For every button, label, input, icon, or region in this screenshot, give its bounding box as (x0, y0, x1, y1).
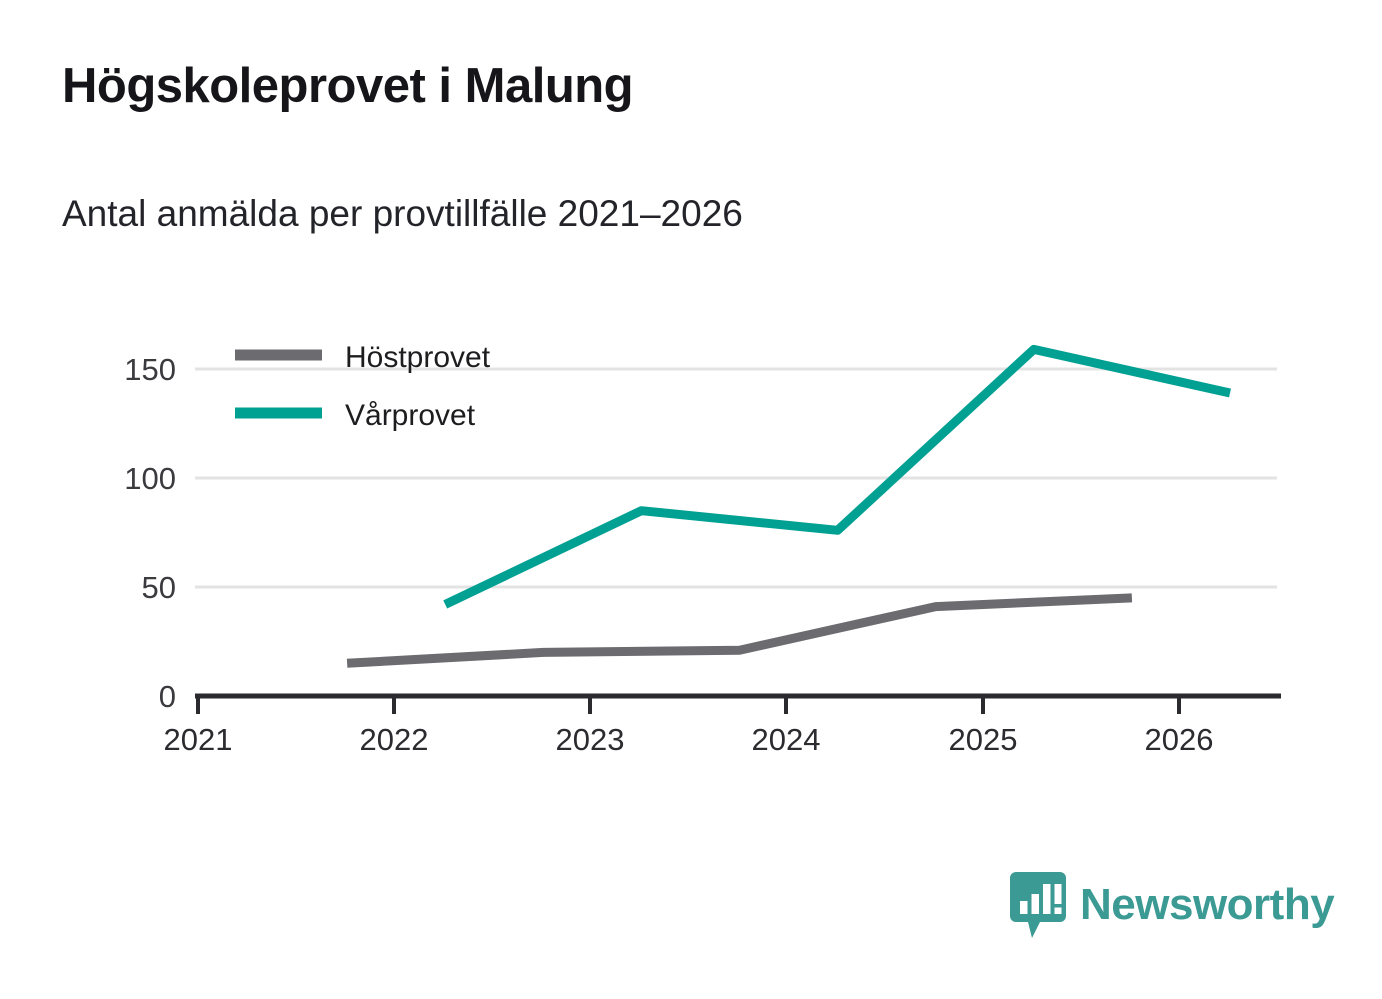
y-axis-tick-labels: 150 100 50 0 (124, 352, 176, 714)
line-chart: 150 100 50 0 2021 2022 2023 2024 2025 (0, 300, 1382, 780)
ytick-label-100: 100 (124, 461, 176, 496)
newsworthy-logo[interactable]: Newsworthy (1010, 868, 1330, 942)
ytick-label-150: 150 (124, 352, 176, 387)
x-axis (195, 696, 1281, 714)
ytick-label-50: 50 (142, 570, 176, 605)
newsworthy-logo-text: Newsworthy (1080, 883, 1334, 927)
bar-chart-speech-bubble-icon (1010, 872, 1066, 938)
xtick-label-2023: 2023 (556, 722, 625, 757)
page-title: Högskoleprovet i Malung (62, 58, 633, 114)
legend-label-hostprovet[interactable]: Höstprovet (345, 341, 491, 374)
chart-svg: 150 100 50 0 2021 2022 2023 2024 2025 (0, 300, 1382, 780)
chart-page: Högskoleprovet i Malung Antal anmälda pe… (0, 0, 1382, 999)
xtick-label-2026: 2026 (1145, 722, 1214, 757)
xtick-label-2022: 2022 (360, 722, 429, 757)
ytick-label-0: 0 (159, 679, 176, 714)
xtick-label-2021: 2021 (164, 722, 233, 757)
series-line-hostprovet (347, 598, 1132, 663)
xtick-label-2025: 2025 (949, 722, 1018, 757)
legend: Höstprovet Vårprovet (235, 341, 491, 432)
legend-label-varprovet[interactable]: Vårprovet (345, 399, 476, 432)
xtick-label-2024: 2024 (752, 722, 821, 757)
x-axis-tick-labels: 2021 2022 2023 2024 2025 2026 (164, 722, 1214, 757)
page-subtitle: Antal anmälda per provtillfälle 2021–202… (62, 193, 743, 235)
